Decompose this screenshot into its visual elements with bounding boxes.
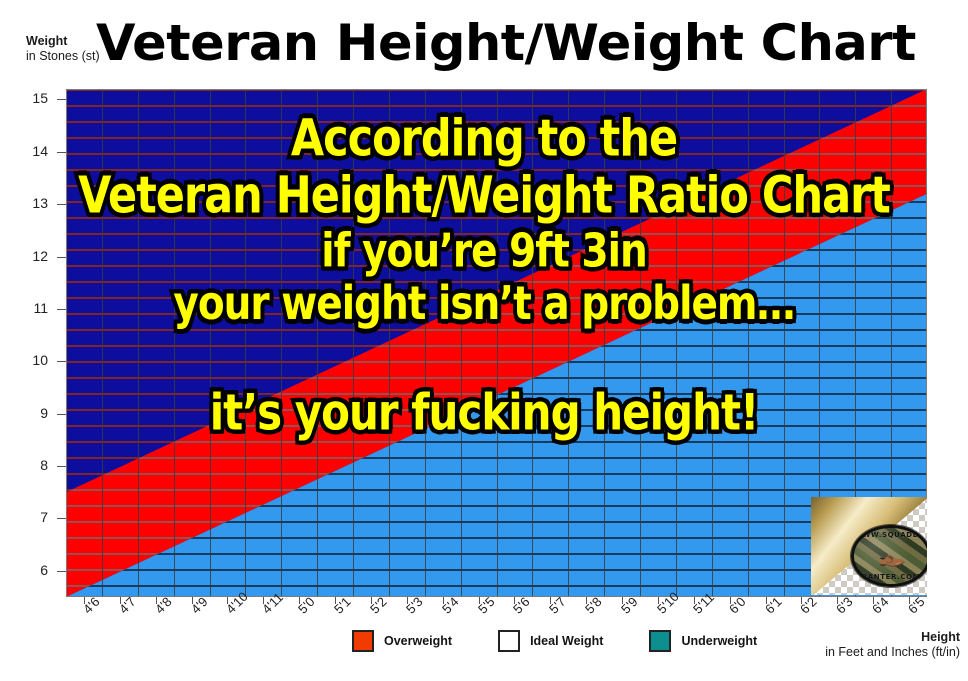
page-title: Veteran Height/Weight Chart (96, 12, 968, 74)
legend-item[interactable]: Ideal Weight (498, 630, 603, 652)
legend-item[interactable]: Overweight (352, 630, 452, 652)
y-axis-tick-mark (57, 309, 66, 310)
y-axis-tick-label: 14 (18, 143, 48, 159)
legend-label: Ideal Weight (530, 634, 603, 648)
y-axis-caption-units: in Stones (st) (26, 49, 100, 64)
legend-label: Underweight (681, 634, 757, 648)
y-axis-tick-mark (57, 204, 66, 205)
chart-plot-area (66, 89, 927, 597)
y-axis-caption-title: Weight (26, 34, 100, 49)
y-axis-tick-label: 7 (18, 509, 48, 525)
x-axis-caption: Height in Feet and Inches (ft/in) (825, 630, 960, 660)
y-axis-tick-label: 12 (18, 248, 48, 264)
y-axis-tick-mark (57, 152, 66, 153)
chart-bands (66, 89, 927, 597)
x-axis-caption-title: Height (825, 630, 960, 645)
legend-label: Overweight (384, 634, 452, 648)
y-axis-tick-mark (57, 466, 66, 467)
y-axis-tick-mark (57, 571, 66, 572)
y-axis-tick-mark (57, 361, 66, 362)
x-axis-caption-units: in Feet and Inches (ft/in) (825, 645, 960, 660)
y-axis-caption: Weight in Stones (st) (26, 34, 100, 64)
chart-legend: OverweightIdeal WeightUnderweight (352, 630, 757, 652)
y-axis-tick-mark (57, 414, 66, 415)
y-axis-tick-label: 15 (18, 90, 48, 106)
y-axis-tick-label: 9 (18, 405, 48, 421)
y-axis-tick-label: 6 (18, 562, 48, 578)
legend-swatch (352, 630, 374, 652)
legend-swatch (649, 630, 671, 652)
y-axis-tick-label: 11 (18, 300, 48, 316)
y-axis-tick-mark (57, 518, 66, 519)
legend-item[interactable]: Underweight (649, 630, 757, 652)
y-axis-tick-label: 13 (18, 195, 48, 211)
y-axis-tick-label: 10 (18, 352, 48, 368)
y-axis-tick-label: 8 (18, 457, 48, 473)
legend-swatch (498, 630, 520, 652)
y-axis-tick-mark (57, 99, 66, 100)
y-axis-tick-mark (57, 257, 66, 258)
